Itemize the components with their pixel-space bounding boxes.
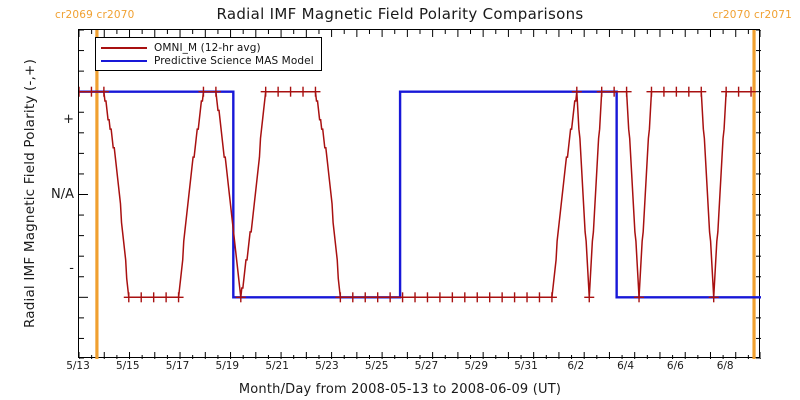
x-tick-label: 6/8 bbox=[717, 360, 734, 372]
carrington-label-left: cr2069 cr2070 bbox=[55, 9, 135, 21]
plot-area bbox=[78, 29, 760, 358]
x-axis-ticks: 5/135/155/175/195/215/235/255/275/295/31… bbox=[78, 360, 760, 376]
x-tick-label: 5/31 bbox=[514, 360, 538, 372]
carrington-label-right: cr2070 cr2071 bbox=[712, 9, 792, 21]
x-tick-label: 5/27 bbox=[415, 360, 439, 372]
x-tick-label: 5/13 bbox=[66, 360, 90, 372]
legend-label-mas: Predictive Science MAS Model bbox=[154, 55, 314, 67]
carrington-rotation-lines bbox=[97, 30, 754, 359]
legend-swatch-omni bbox=[101, 47, 147, 49]
x-tick-label: 5/17 bbox=[166, 360, 190, 372]
x-axis-label: Month/Day from 2008-05-13 to 2008-06-09 … bbox=[0, 382, 800, 397]
plot-canvas bbox=[79, 30, 761, 359]
x-tick-label: 6/4 bbox=[617, 360, 634, 372]
x-tick-label: 6/6 bbox=[667, 360, 684, 372]
axis-tick-marks bbox=[79, 30, 761, 359]
legend-label-omni: OMNI_M (12-hr avg) bbox=[154, 42, 261, 54]
x-tick-label: 5/15 bbox=[116, 360, 140, 372]
chart-page: Radial IMF Magnetic Field Polarity Compa… bbox=[0, 0, 800, 400]
legend-item-mas: Predictive Science MAS Model bbox=[101, 54, 314, 67]
legend-swatch-mas bbox=[101, 60, 147, 62]
legend: OMNI_M (12-hr avg) Predictive Science MA… bbox=[95, 37, 322, 71]
legend-item-omni: OMNI_M (12-hr avg) bbox=[101, 41, 314, 54]
x-tick-label: 5/19 bbox=[216, 360, 240, 372]
x-tick-label: 6/2 bbox=[567, 360, 584, 372]
x-tick-label: 5/25 bbox=[365, 360, 389, 372]
x-tick-label: 5/21 bbox=[265, 360, 289, 372]
series-markers-omni bbox=[79, 87, 756, 303]
y-tick-minus: - bbox=[18, 262, 74, 275]
y-tick-plus: + bbox=[18, 113, 74, 126]
y-tick-na: N/A bbox=[18, 188, 74, 201]
x-tick-label: 5/23 bbox=[315, 360, 339, 372]
series-line-omni bbox=[79, 92, 751, 298]
x-tick-label: 5/29 bbox=[464, 360, 488, 372]
y-axis-ticks: + N/A - bbox=[18, 29, 74, 358]
